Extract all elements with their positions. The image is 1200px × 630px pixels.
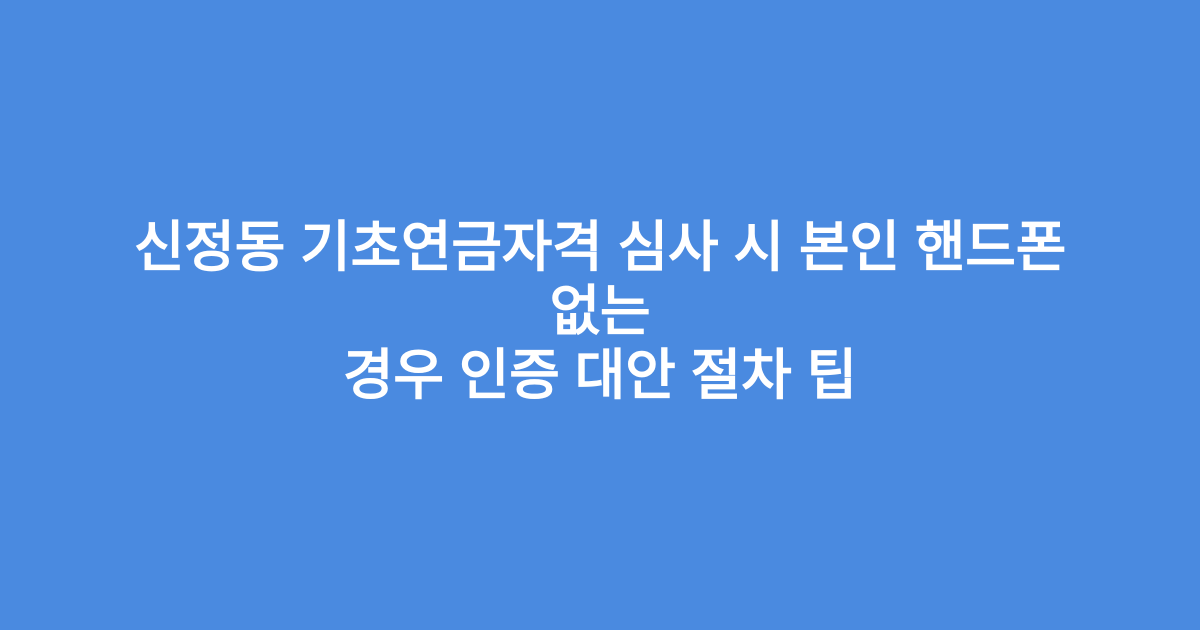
- page-title: 신정동 기초연금자격 심사 시 본인 핸드폰 없는 경우 인증 대안 절차 팁: [85, 215, 1115, 407]
- title-block: 신정동 기초연금자격 심사 시 본인 핸드폰 없는 경우 인증 대안 절차 팁: [85, 215, 1115, 407]
- social-share-card: 신정동 기초연금자격 심사 시 본인 핸드폰 없는 경우 인증 대안 절차 팁: [0, 0, 1200, 630]
